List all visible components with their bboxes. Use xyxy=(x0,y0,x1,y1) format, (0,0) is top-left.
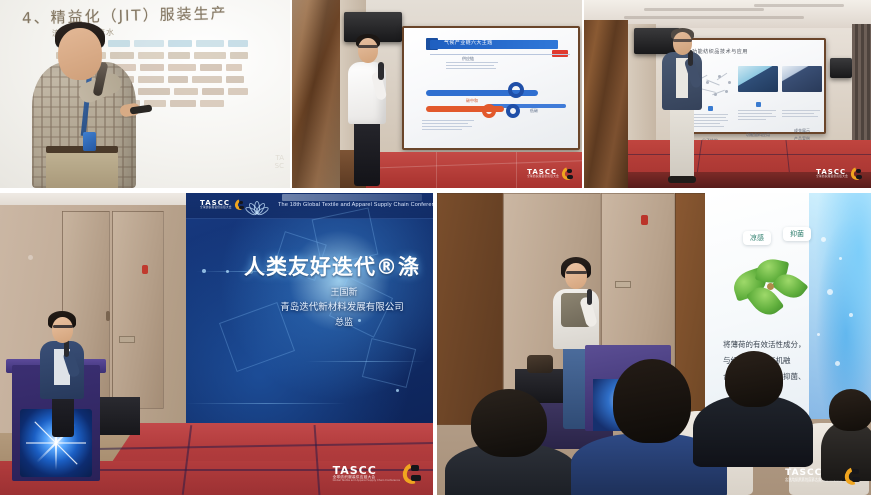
presenter-three-shoes xyxy=(668,176,696,183)
slide-ring-orange xyxy=(482,104,496,118)
panel-stage-presentation-blazer-speaker: 功能纺织品技术与应用 分子结构 xyxy=(584,0,871,188)
door-sign-plate xyxy=(615,281,631,288)
eyeglasses-icon xyxy=(673,39,692,42)
door-sign-plate xyxy=(119,336,135,343)
slide-ring-blue-2 xyxy=(506,104,520,118)
wall-gloss-reflection xyxy=(292,0,340,188)
backdrop-event-en-title: The 18th Global Textile and Apparel Supp… xyxy=(278,202,428,208)
tascc-mascot-icon xyxy=(403,461,425,487)
ceiling-speaker-icon xyxy=(830,58,852,78)
slide-column-1-text xyxy=(690,114,730,129)
slide-label-2: 碳中和 xyxy=(466,98,478,104)
presenter-two-head xyxy=(358,38,378,63)
projection-screen: 气候产业链六大主题 供应链 碳中和 低碳 xyxy=(404,28,578,148)
keynote-speaker-name: 王国新 xyxy=(244,285,433,298)
panel-audience-view-presentation: 凉感 抑菌 将薄荷的有效活性成分， 与纤维官能团有机融 合，使其具有植物抑菌、 xyxy=(437,193,871,495)
slide-column-3 xyxy=(782,66,822,92)
eyeglasses-icon xyxy=(358,45,378,48)
presenter-one-badge xyxy=(83,132,96,151)
slide-label-1: 供应链 xyxy=(462,56,474,62)
female-speaker-head xyxy=(565,263,587,289)
handbag xyxy=(527,355,553,373)
slide-column-2 xyxy=(738,66,778,92)
projection-screen-frame: 气候产业链六大主题 供应链 碳中和 低碳 xyxy=(402,26,580,150)
tascc-cn-tagline: 全球纺织服装供应链大会 xyxy=(816,176,848,179)
hall-door xyxy=(112,211,164,409)
wall-light-spot xyxy=(28,255,33,260)
slide-body-line-1: 将薄荷的有效活性成分， xyxy=(723,339,847,350)
slide-column-3-text xyxy=(782,110,822,119)
tascc-logo-overlay: TASCC 全球纺织服装供应链大会 xyxy=(527,166,576,182)
microphone-icon xyxy=(587,289,592,305)
slide-divider xyxy=(430,54,570,55)
slide-title: 功能纺织品技术与应用 xyxy=(692,48,748,55)
photo-collage: 4、精益化（JIT）服装生产 流程式单件流水 TASC xyxy=(0,0,871,495)
tascc-cn-tagline: 全球纺织服装供应链大会 xyxy=(527,176,559,179)
fire-alarm-icon xyxy=(142,265,148,274)
side-table xyxy=(96,397,140,435)
tascc-logo-overlay: TASCC 全球纺织服装供应链大会 Global Textile and App… xyxy=(333,461,425,487)
keynote-speaker-legs xyxy=(52,393,74,437)
presenter-three-legs xyxy=(670,106,694,180)
slide-column-3-label: 成衣展示 xyxy=(782,128,822,134)
presenter-three-head xyxy=(673,32,692,55)
mint-leaf-graphic xyxy=(729,255,813,317)
lotus-emblem-icon xyxy=(248,198,266,214)
wood-wall-left xyxy=(437,193,503,425)
keynote-speaker-head xyxy=(52,317,73,343)
keynote-speaker-company: 青岛迭代新材料发展有限公司 xyxy=(224,299,433,313)
tascc-logo-backdrop: TASCC 全球纺织服装供应链大会 xyxy=(200,198,247,212)
presenter-one-trousers xyxy=(46,150,118,188)
slide-header-title: 气候产业链六大主题 xyxy=(444,39,493,46)
tascc-logo-overlay: TASCC 全球纺织服装供应链大会 Global Textile and App… xyxy=(785,465,863,487)
slide-column-2-text xyxy=(738,110,778,122)
feature-tag-antibacterial: 抑菌 xyxy=(783,227,811,241)
door-handle-icon[interactable] xyxy=(106,311,110,321)
slide-text-block-top xyxy=(446,62,500,71)
whiteboard-watermark: TASC xyxy=(258,154,284,184)
eyeglasses-icon xyxy=(53,325,73,328)
tascc-mascot-icon xyxy=(845,465,863,487)
panel-keynote-blue-backdrop: TASCC 全球纺织服装供应链大会 The 18th Global Textil… xyxy=(0,193,433,495)
wood-wall-left xyxy=(584,20,628,188)
panel-whiteboard-lecture: 4、精益化（JIT）服装生产 流程式单件流水 TASC xyxy=(0,0,290,188)
slide-label-3: 低碳 xyxy=(530,108,538,114)
keynote-speaker-role: 总监 xyxy=(244,315,433,328)
water-splash-graphic xyxy=(809,193,871,419)
presenter-two-legs xyxy=(354,120,380,186)
panel-stage-presentation-young-speaker: 气候产业链六大主题 供应链 碳中和 低碳 xyxy=(292,0,582,188)
fire-alarm-icon xyxy=(641,215,648,225)
tascc-logo-overlay: TASCC 全球纺织服装供应链大会 xyxy=(816,166,865,182)
eyeglasses-icon xyxy=(566,271,587,274)
slide-photo-jacket xyxy=(738,66,778,92)
slide-photo-garment xyxy=(782,66,822,92)
slide-text-block-bottom xyxy=(422,120,476,132)
microphone-icon xyxy=(378,62,384,80)
presenter-one-head xyxy=(58,28,102,80)
tascc-mascot-icon xyxy=(851,166,865,182)
keynote-talk-title: 人类友好迭代®涤 xyxy=(244,251,433,281)
tascc-en-tagline: Global Textile and Apparel Supply Chain … xyxy=(333,480,400,483)
presenter-one-belt xyxy=(46,146,118,153)
event-backdrop: TASCC 全球纺织服装供应链大会 The 18th Global Textil… xyxy=(186,193,433,451)
tascc-mascot-icon xyxy=(562,166,576,182)
slide-column-2-label: 功能面料应用 xyxy=(738,132,778,138)
feature-tag-cooling: 凉感 xyxy=(743,231,771,245)
tascc-cn-tagline: 全球纺织服装供应链大会 xyxy=(200,207,232,210)
slide-ring-blue-1 xyxy=(508,82,524,98)
backdrop-event-cn-title xyxy=(282,194,422,201)
tascc-en-tagline: Global Textile and Apparel Supply Chain … xyxy=(785,481,842,483)
